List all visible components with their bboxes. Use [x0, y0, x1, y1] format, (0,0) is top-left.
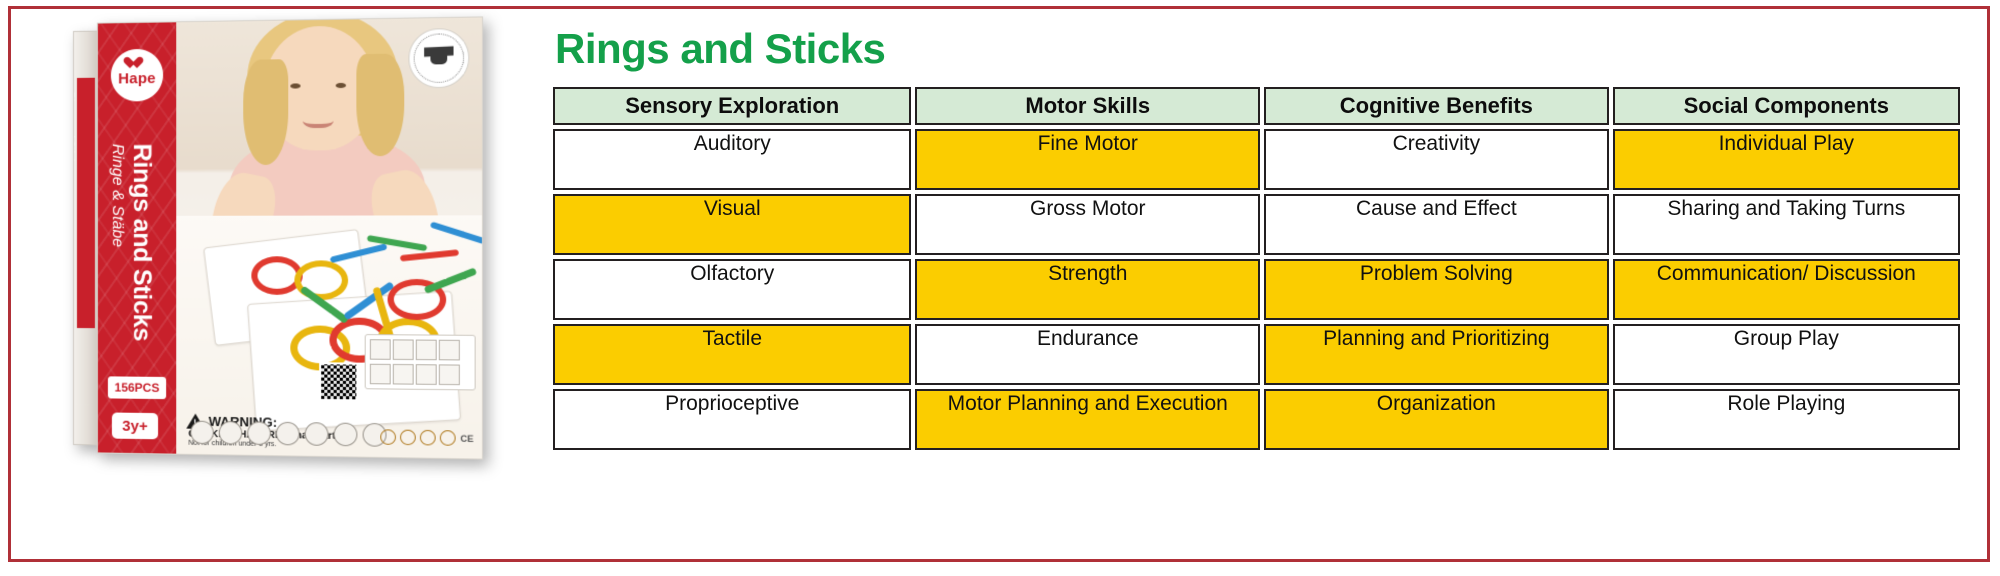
- table-cell: Problem Solving: [1264, 259, 1609, 320]
- table-cell: Strength: [915, 259, 1260, 320]
- column-header-cognitive-benefits: Cognitive Benefits: [1264, 87, 1609, 125]
- table-cell: Creativity: [1264, 129, 1609, 190]
- column-header-social-components: Social Components: [1613, 87, 1960, 125]
- child-hair-right: [356, 54, 404, 157]
- cert-icon-1: [381, 429, 397, 445]
- table-cell: Individual Play: [1613, 129, 1960, 190]
- table-cell: Communication/ Discussion: [1613, 259, 1960, 320]
- feature-icon-3: [247, 421, 271, 445]
- ce-mark-label: CE: [460, 433, 473, 443]
- feature-icon-row: [190, 421, 386, 447]
- product-box: Rings and Sticks Hape Rings and Sticks R…: [73, 16, 483, 459]
- column-header-sensory-exploration: Sensory Exploration: [553, 87, 911, 125]
- benefits-table: Sensory Exploration Motor Skills Cogniti…: [549, 83, 1964, 454]
- table-cell: Auditory: [553, 129, 911, 190]
- column-header-motor-skills: Motor Skills: [915, 87, 1260, 125]
- table-cell: Motor Planning and Execution: [915, 389, 1260, 450]
- table-row: Visual Gross Motor Cause and Effect Shar…: [553, 194, 1960, 255]
- table-row: Olfactory Strength Problem Solving Commu…: [553, 259, 1960, 320]
- feature-icon-2: [219, 421, 242, 445]
- cert-icon-2: [401, 430, 417, 446]
- feature-icon-6: [334, 423, 358, 447]
- cert-icon-3: [420, 430, 436, 446]
- side-title: Rings and Sticks: [73, 92, 76, 312]
- table-cell: Proprioceptive: [553, 389, 911, 450]
- product-image-pane: Rings and Sticks Hape Rings and Sticks R…: [11, 9, 531, 559]
- table-cell: Role Playing: [1613, 389, 1960, 450]
- box-title-line1: Rings and Sticks: [127, 143, 156, 341]
- side-red-strip: [77, 78, 95, 328]
- table-row: Auditory Fine Motor Creativity Individua…: [553, 129, 1960, 190]
- page-frame: Rings and Sticks Hape Rings and Sticks R…: [8, 6, 1990, 562]
- instruction-thumbnail: [365, 334, 476, 390]
- page-title: Rings and Sticks: [555, 27, 1964, 71]
- table-cell: Organization: [1264, 389, 1609, 450]
- brand-name: Hape: [118, 69, 156, 87]
- feature-icon-4: [276, 422, 300, 446]
- educational-seal-icon: [408, 28, 469, 88]
- feature-icon-1: [190, 421, 213, 445]
- table-row: Proprioceptive Motor Planning and Execut…: [553, 389, 1960, 450]
- table-cell: Planning and Prioritizing: [1264, 324, 1609, 385]
- product-box-side-panel: Rings and Sticks: [73, 31, 99, 446]
- table-header-row: Sensory Exploration Motor Skills Cogniti…: [553, 87, 1960, 125]
- table-cell: Olfactory: [553, 259, 911, 320]
- age-badge: 3y+: [112, 413, 158, 440]
- table-cell: Gross Motor: [915, 194, 1260, 255]
- qr-code-icon: [319, 362, 358, 401]
- page-content: Rings and Sticks Hape Rings and Sticks R…: [11, 9, 1987, 559]
- table-pane: Rings and Sticks Sensory Exploration Mot…: [531, 9, 1988, 454]
- table-cell: Visual: [553, 194, 911, 255]
- box-title-line2: Ringe & Stäbe: [108, 144, 126, 248]
- table-row: Tactile Endurance Planning and Prioritiz…: [553, 324, 1960, 385]
- certification-row: CE: [381, 429, 474, 446]
- child-smile: [303, 110, 334, 129]
- feature-icon-5: [305, 422, 329, 446]
- child-hair-left: [243, 59, 288, 165]
- heart-icon: [130, 57, 143, 69]
- product-box-front: Hape Rings and Sticks Ringe & Stäbe 156P…: [97, 16, 483, 459]
- hape-logo: Hape: [111, 49, 163, 102]
- table-cell: Group Play: [1613, 324, 1960, 385]
- product-photo: WARNING: CHOKING HAZARD-Small parts. Not…: [176, 17, 482, 458]
- table-cell: Endurance: [915, 324, 1260, 385]
- table-cell: Sharing and Taking Turns: [1613, 194, 1960, 255]
- table-cell: Tactile: [553, 324, 911, 385]
- pieces-badge: 156PCS: [108, 376, 166, 399]
- ring-yellow-1: [294, 260, 348, 300]
- table-cell: Fine Motor: [915, 129, 1260, 190]
- table-cell: Cause and Effect: [1264, 194, 1609, 255]
- cert-icon-4: [440, 430, 456, 446]
